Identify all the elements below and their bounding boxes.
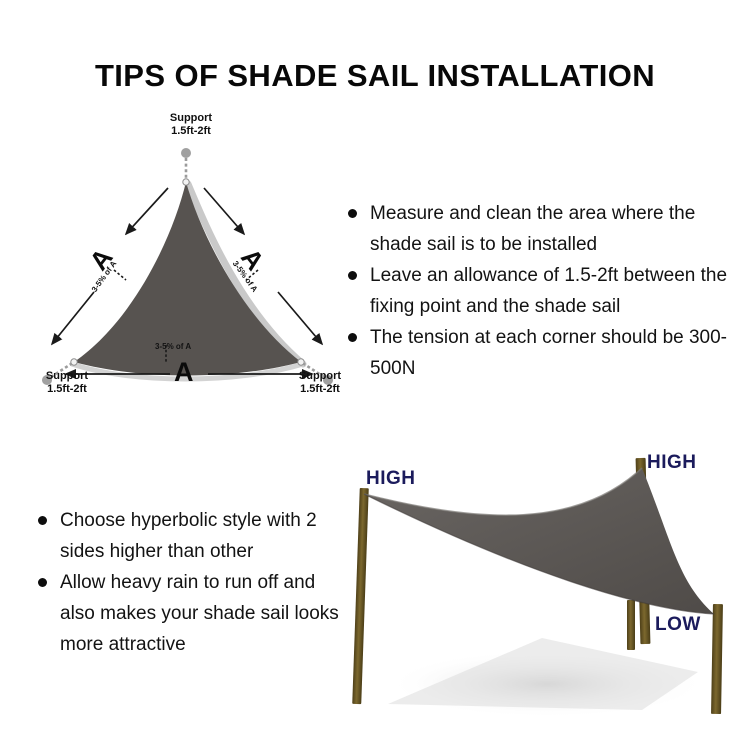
support-label-top: Support 1.5ft-2ft	[146, 112, 236, 137]
support-post-high-left	[352, 488, 369, 704]
dimension-letter-bottom: A	[174, 357, 194, 388]
list-item: The tension at each corner should be 300…	[348, 322, 740, 384]
sail-corner-top	[183, 179, 189, 185]
list-item: Choose hyperbolic style with 2 sides hig…	[38, 505, 343, 567]
tip-text: Allow heavy rain to run off and also mak…	[60, 572, 339, 655]
triangle-shade-sail-diagram: Support 1.5ft-2ft Support 1.5ft-2ft Supp…	[22, 112, 352, 412]
tip-text: Measure and clean the area where the sha…	[370, 203, 695, 255]
hyperbolic-style-tips-list: Choose hyperbolic style with 2 sides hig…	[38, 505, 343, 660]
support-distance-right: 1.5ft-2ft	[275, 383, 365, 396]
list-item: Leave an allowance of 1.5-2ft between th…	[348, 260, 740, 322]
infographic-page: TIPS OF SHADE SAIL INSTALLATION	[0, 0, 750, 750]
curve-allowance-label-bottom: 3-5% of A	[155, 342, 191, 351]
installation-tips-list: Measure and clean the area where the sha…	[348, 198, 740, 384]
list-item: Measure and clean the area where the sha…	[348, 198, 740, 260]
support-post-back-middle	[627, 600, 635, 650]
sail-fabric-hyperbolic	[364, 468, 714, 614]
sail-corner-right	[298, 359, 304, 365]
bullet-dot-icon	[348, 209, 357, 218]
tip-text: The tension at each corner should be 300…	[370, 327, 727, 379]
bullet-dot-icon	[348, 333, 357, 342]
post-label-high-left: HIGH	[366, 468, 416, 490]
post-label-high-right: HIGH	[647, 452, 697, 474]
bullet-dot-icon	[348, 271, 357, 280]
support-label-left: Support 1.5ft-2ft	[22, 370, 112, 395]
hyperbolic-shade-sail-diagram: HIGH HIGH LOW	[342, 432, 748, 728]
bullet-dot-icon	[38, 578, 47, 587]
sail-corner-left	[71, 359, 77, 365]
sag-indicator-left	[114, 270, 126, 280]
dimension-arrow-left-upper	[126, 188, 168, 234]
list-item: Allow heavy rain to run off and also mak…	[38, 567, 343, 660]
dimension-arrow-right-lower	[278, 292, 322, 344]
dimension-arrow-left-lower	[52, 292, 94, 344]
support-distance-left: 1.5ft-2ft	[22, 383, 112, 396]
tip-text: Leave an allowance of 1.5-2ft between th…	[370, 265, 727, 317]
page-title: TIPS OF SHADE SAIL INSTALLATION	[0, 58, 750, 94]
post-label-low-right: LOW	[655, 614, 701, 636]
support-post-low-right	[711, 604, 723, 714]
support-anchor-top	[181, 148, 191, 158]
support-title-top: Support	[146, 112, 236, 125]
support-title-left: Support	[22, 370, 112, 383]
bullet-dot-icon	[38, 516, 47, 525]
tip-text: Choose hyperbolic style with 2 sides hig…	[60, 510, 317, 562]
support-distance-top: 1.5ft-2ft	[146, 125, 236, 138]
